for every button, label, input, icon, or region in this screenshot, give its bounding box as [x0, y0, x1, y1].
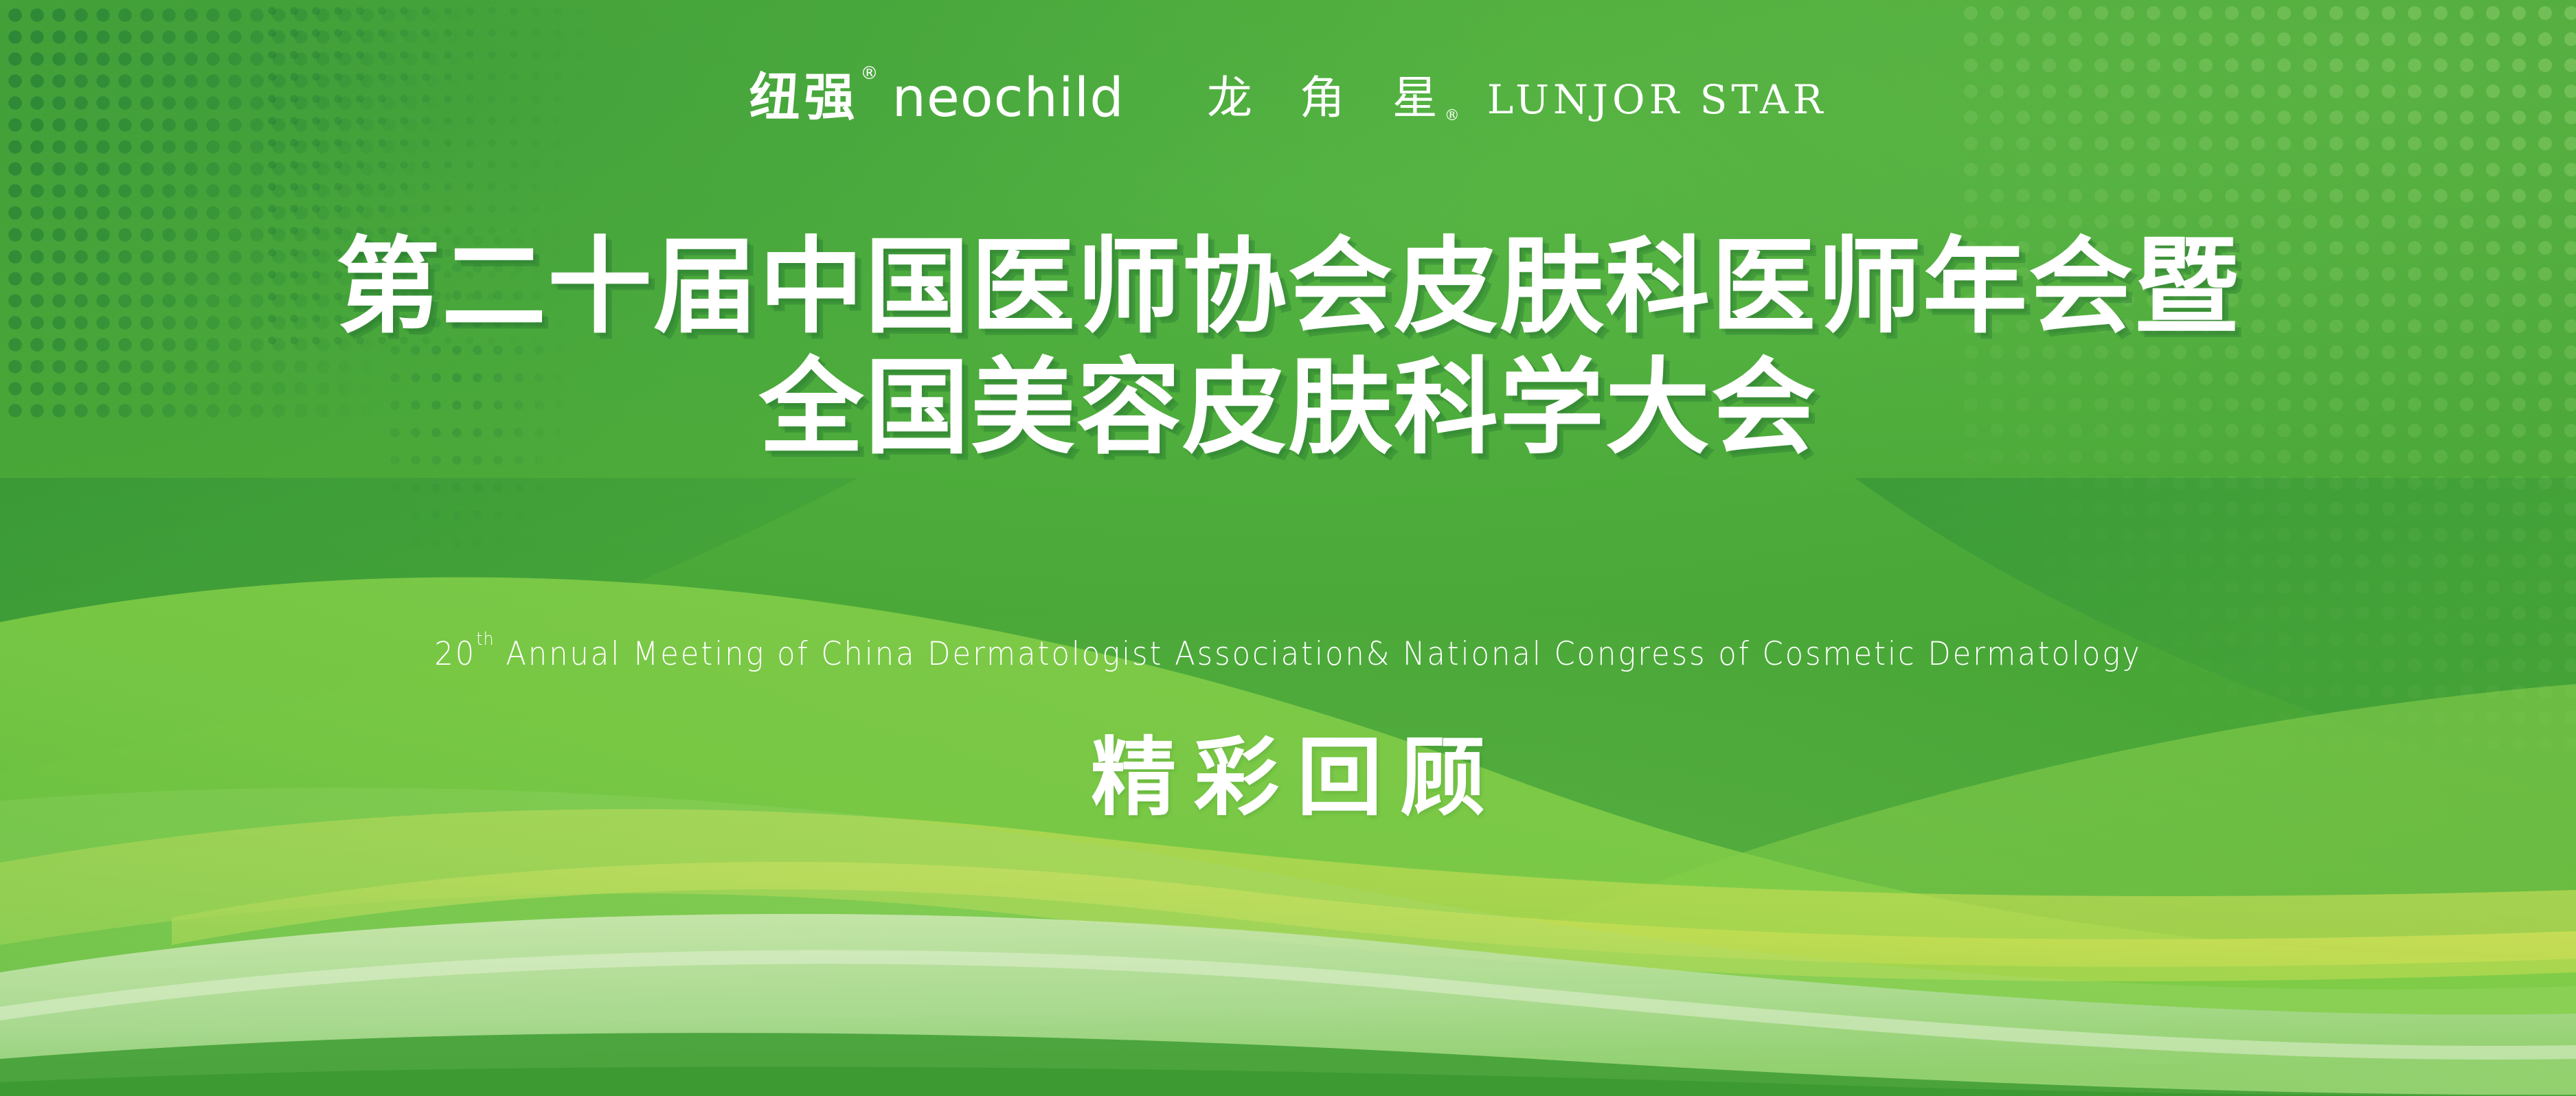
subtitle-number: 20: [434, 635, 476, 673]
page-title: 第二十届中国医师协会皮肤科医师年会暨 全国美容皮肤科学大会: [0, 227, 2576, 469]
registered-trademark-icon: ®: [1445, 107, 1460, 124]
highlight-label: 精彩回顾: [0, 731, 2576, 825]
title-line-2: 全国美容皮肤科学大会: [0, 347, 2576, 468]
neochild-cn-text: 纽强: [749, 68, 859, 127]
english-subtitle: 20th Annual Meeting of China Dermatologi…: [103, 635, 2473, 673]
sponsor-logo-row: 纽强® neochild 龙 角 星® LUNJOR STAR: [0, 71, 2576, 121]
banner-content: 纽强® neochild 龙 角 星® LUNJOR STAR 第二十届中国医师…: [0, 0, 2576, 1096]
lunjor-star-logo: 龙 角 星® LUNJOR STAR: [1207, 76, 1827, 121]
neochild-logo: 纽强® neochild: [749, 71, 1125, 121]
lunjor-cn-name: 龙 角 星®: [1207, 76, 1469, 121]
subtitle-rest: Annual Meeting of China Dermatologist As…: [495, 635, 2142, 673]
lunjor-latin-name: LUNJOR STAR: [1487, 80, 1827, 119]
title-line-1: 第二十届中国医师协会皮肤科医师年会暨: [0, 227, 2576, 347]
subtitle-ordinal: th: [476, 629, 494, 650]
conference-banner: 纽强® neochild 龙 角 星® LUNJOR STAR 第二十届中国医师…: [0, 0, 2576, 1096]
neochild-latin-name: neochild: [892, 74, 1125, 124]
neochild-cn-name: 纽强®: [749, 74, 877, 121]
lunjor-cn-text: 龙 角 星: [1207, 71, 1454, 124]
registered-trademark-icon: ®: [861, 63, 879, 84]
